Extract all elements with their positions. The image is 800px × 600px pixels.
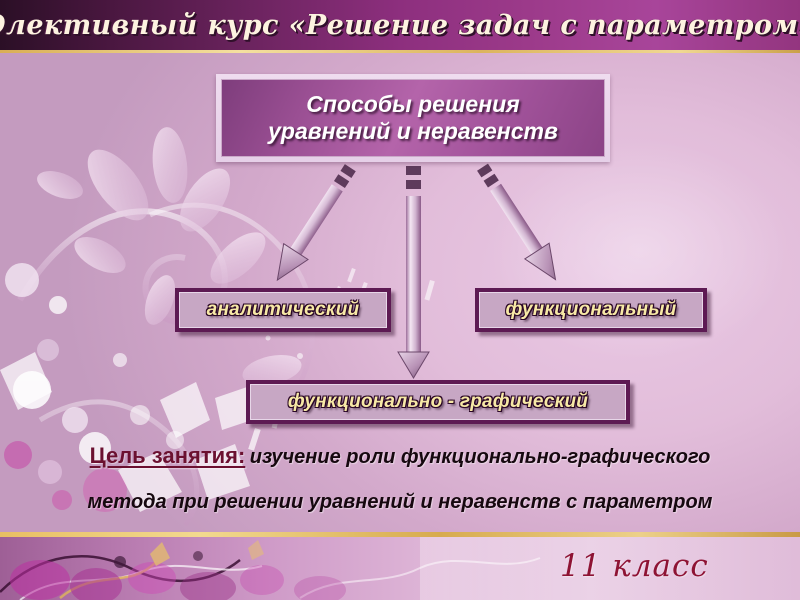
- goal-label: Цель занятия:: [90, 443, 246, 468]
- goal-row-2: метода при решении уравнений и неравенст…: [0, 491, 800, 514]
- slide-canvas: Элективный курс «Решение задач с парамет…: [0, 0, 800, 600]
- goal-row-1: Цель занятия: изучение роли функциональн…: [0, 443, 800, 469]
- functional-graphic-box-inner: функционально - графический: [250, 384, 626, 420]
- functional-box-inner: функциональный: [479, 292, 703, 328]
- arrow-center-icon: [398, 166, 429, 378]
- analytic-label: аналитический: [207, 299, 360, 321]
- main-topic-box-inner: Способы решения уравнений и неравенств: [221, 79, 605, 157]
- goal-text-line-2: метода при решении уравнений и неравенст…: [88, 491, 713, 513]
- main-topic-line-2: уравнений и неравенств: [268, 118, 558, 145]
- goal-text-line-1: изучение роли функционально-графического: [250, 446, 711, 468]
- functional-graphic-box: функционально - графический: [246, 380, 630, 424]
- main-topic-box: Способы решения уравнений и неравенств: [216, 74, 610, 162]
- analytic-box: аналитический: [175, 288, 391, 332]
- arrow-right-icon: [470, 159, 567, 287]
- analytic-box-inner: аналитический: [179, 292, 387, 328]
- grade-label: 11 класс: [560, 548, 709, 584]
- functional-graphic-label: функционально - графический: [288, 391, 588, 413]
- functional-box: функциональный: [475, 288, 707, 332]
- functional-label: функциональный: [506, 299, 677, 321]
- main-topic-line-1: Способы решения: [306, 91, 519, 118]
- arrow-left-icon: [265, 160, 362, 288]
